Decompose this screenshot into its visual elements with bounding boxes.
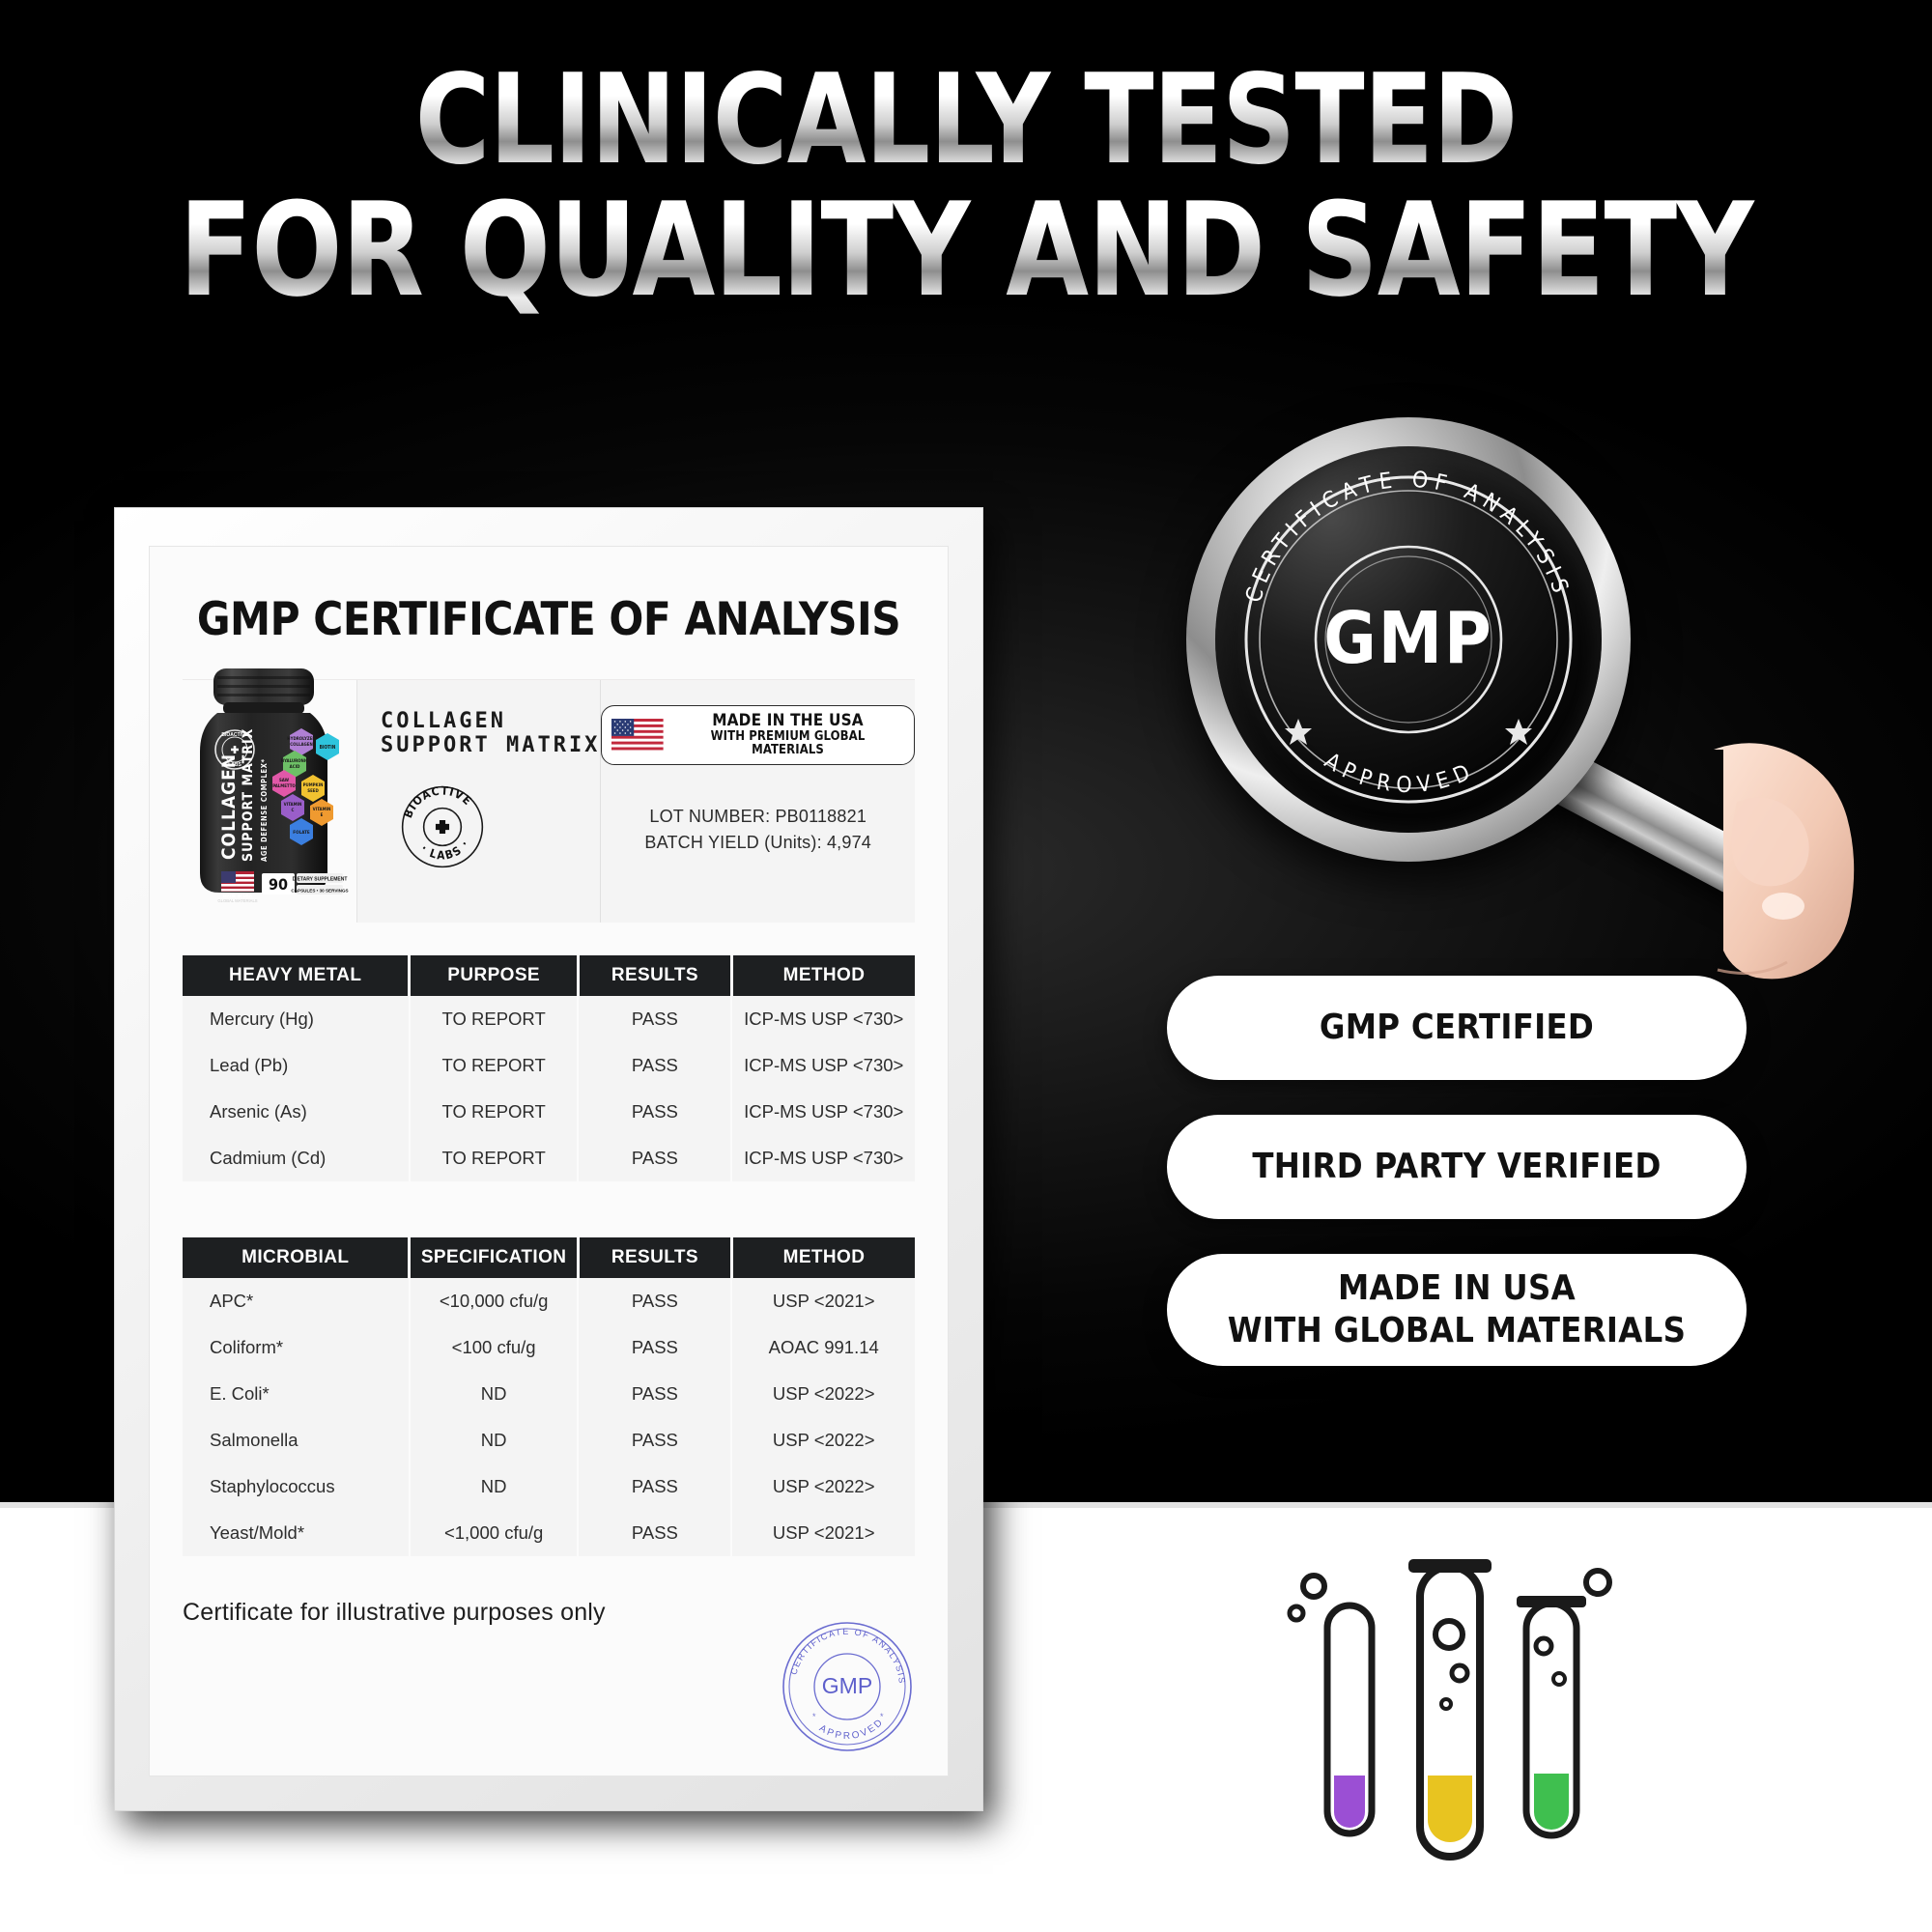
badge-third-party-verified: THIRD PARTY VERIFIED [1167, 1115, 1747, 1219]
svg-text:GMP: GMP [1323, 597, 1493, 680]
table-row: Coliform* <100 cfu/g PASS AOAC 991.14 [183, 1324, 915, 1371]
table-row: Mercury (Hg) TO REPORT PASS ICP-MS USP <… [183, 996, 915, 1042]
test-tubes-icon [1285, 1534, 1633, 1901]
magnifier-lens: CERTIFICATE OF ANALYSIS APPROVED GMP [1215, 446, 1602, 833]
table-row: Staphylococcus ND PASS USP <2022> [183, 1463, 915, 1510]
bottle-image: BIOACTIVE LABS COLLAGEN SUPPORT MATRIX A… [175, 647, 368, 927]
cell-method: ICP-MS USP <730> [731, 1135, 915, 1181]
column-header: MICROBIAL [183, 1237, 410, 1278]
cell-analyte: Yeast/Mold* [183, 1510, 410, 1556]
table-row: APC* <10,000 cfu/g PASS USP <2021> [183, 1278, 915, 1324]
cell-analyte: Salmonella [183, 1417, 410, 1463]
cell-result: PASS [578, 1089, 731, 1135]
column-header: RESULTS [578, 955, 731, 996]
cell-spec: ND [410, 1417, 578, 1463]
svg-text:HYALURONIC: HYALURONIC [281, 758, 309, 764]
cell-analyte: APC* [183, 1278, 410, 1324]
svg-text:SAW: SAW [279, 778, 290, 783]
table-row: Arsenic (As) TO REPORT PASS ICP-MS USP <… [183, 1089, 915, 1135]
cell-analyte: Arsenic (As) [183, 1089, 410, 1135]
cell-result: PASS [578, 1463, 731, 1510]
cell-result: PASS [578, 1042, 731, 1089]
svg-text:HYDROLYZED: HYDROLYZED [287, 736, 316, 742]
cell-method: ICP-MS USP <730> [731, 1042, 915, 1089]
table-header-row: HEAVY METAL PURPOSE RESULTS METHOD [183, 955, 915, 996]
svg-text:VITAMIN: VITAMIN [284, 802, 302, 808]
cell-result: PASS [578, 996, 731, 1042]
svg-text:*: * [812, 1712, 816, 1721]
certificate-page: GMP CERTIFICATE OF ANALYSIS [149, 546, 949, 1776]
cell-method: USP <2022> [731, 1371, 915, 1417]
made-in-usa-line-2: WITH PREMIUM GLOBAL MATERIALS [673, 730, 902, 758]
cell-result: PASS [578, 1510, 731, 1556]
made-in-usa-badge: MADE IN THE USA WITH PREMIUM GLOBAL MATE… [601, 705, 915, 765]
cell-result: PASS [578, 1371, 731, 1417]
column-header: METHOD [731, 955, 915, 996]
svg-text:PALMETTO: PALMETTO [272, 783, 296, 789]
cell-result: PASS [578, 1278, 731, 1324]
svg-text:VITAMIN: VITAMIN [313, 807, 331, 812]
cell-analyte: Coliform* [183, 1324, 410, 1371]
svg-text:APPROVED: APPROVED [1320, 749, 1479, 798]
magnifier-glass: CERTIFICATE OF ANALYSIS APPROVED GMP [1186, 417, 1631, 862]
cell-method: AOAC 991.14 [731, 1324, 915, 1371]
svg-text:*: * [880, 1712, 884, 1721]
svg-text:SUPPORT MATRIX: SUPPORT MATRIX [241, 728, 256, 862]
certificate-title: GMP CERTIFICATE OF ANALYSIS [183, 593, 915, 646]
column-header: RESULTS [578, 1237, 731, 1278]
bioactive-labs-seal-icon: BIOACTIVE · LABS · [400, 784, 485, 869]
cell-method: ICP-MS USP <730> [731, 1089, 915, 1135]
svg-text:AGE DEFENSE COMPLEX*: AGE DEFENSE COMPLEX* [260, 758, 269, 862]
cell-method: USP <2022> [731, 1417, 915, 1463]
svg-text:90: 90 [269, 875, 288, 894]
cell-spec: <10,000 cfu/g [410, 1278, 578, 1324]
cell-analyte: Staphylococcus [183, 1463, 410, 1510]
column-header: HEAVY METAL [183, 955, 410, 996]
svg-text:E: E [321, 812, 324, 818]
svg-text:COLLAGEN: COLLAGEN [290, 742, 313, 748]
cell-purpose: TO REPORT [410, 1089, 578, 1135]
certificate-frame: GMP CERTIFICATE OF ANALYSIS [114, 507, 983, 1811]
heavy-metals-table: HEAVY METAL PURPOSE RESULTS METHOD Mercu… [183, 955, 915, 1181]
badge-label-line-1: MADE IN USA [1338, 1268, 1576, 1308]
svg-text:PUMPKIN: PUMPKIN [303, 782, 324, 788]
table-row: Yeast/Mold* <1,000 cfu/g PASS USP <2021> [183, 1510, 915, 1556]
svg-text:CAPSULES • 30 SERVINGS: CAPSULES • 30 SERVINGS [291, 889, 348, 894]
svg-text:DIETARY SUPPLEMENT: DIETARY SUPPLEMENT [293, 877, 348, 883]
microbial-table: MICROBIAL SPECIFICATION RESULTS METHOD A… [183, 1237, 915, 1556]
product-info-row: BIOACTIVE LABS COLLAGEN SUPPORT MATRIX A… [183, 679, 915, 923]
gmp-seal-icon: CERTIFICATE OF ANALYSIS APPROVED GMP [1215, 446, 1602, 833]
cell-spec: <1,000 cfu/g [410, 1510, 578, 1556]
svg-text:· LABS ·: · LABS · [418, 837, 472, 862]
product-bottle: BIOACTIVE LABS COLLAGEN SUPPORT MATRIX A… [183, 680, 356, 923]
cell-purpose: TO REPORT [410, 1042, 578, 1089]
cell-spec: <100 cfu/g [410, 1324, 578, 1371]
cell-result: PASS [578, 1324, 731, 1371]
badge-label: THIRD PARTY VERIFIED [1252, 1146, 1661, 1188]
cell-purpose: TO REPORT [410, 1135, 578, 1181]
cell-analyte: Mercury (Hg) [183, 996, 410, 1042]
product-name-line-1: COLLAGEN [381, 709, 600, 733]
lot-info-cell: MADE IN THE USA WITH PREMIUM GLOBAL MATE… [600, 680, 915, 923]
headline: CLINICALLY TESTED FOR QUALITY AND SAFETY [0, 58, 1932, 316]
svg-text:BIOACTIVE: BIOACTIVE [401, 784, 474, 820]
cell-analyte: Cadmium (Cd) [183, 1135, 410, 1181]
cell-spec: ND [410, 1463, 578, 1510]
cell-method: USP <2021> [731, 1278, 915, 1324]
cell-result: PASS [578, 1417, 731, 1463]
svg-text:ACID: ACID [290, 764, 300, 770]
lot-number: LOT NUMBER: PB0118821 [601, 804, 915, 830]
cell-spec: ND [410, 1371, 578, 1417]
cell-analyte: Lead (Pb) [183, 1042, 410, 1089]
svg-text:COLLAGEN: COLLAGEN [218, 753, 240, 860]
table-row: E. Coli* ND PASS USP <2022> [183, 1371, 915, 1417]
gmp-approved-stamp-icon: CERTIFICATE OF ANALYSIS APPROVED GMP * * [780, 1619, 915, 1754]
svg-text:GMP: GMP [822, 1673, 872, 1698]
svg-text:FOLATE: FOLATE [293, 830, 310, 836]
cell-method: USP <2021> [731, 1510, 915, 1556]
badge-label-line-2: WITH GLOBAL MATERIALS [1228, 1311, 1686, 1350]
svg-text:APPROVED: APPROVED [817, 1717, 887, 1742]
badge-gmp-certified: GMP CERTIFIED [1167, 976, 1747, 1080]
cell-analyte: E. Coli* [183, 1371, 410, 1417]
column-header: METHOD [731, 1237, 915, 1278]
column-header: SPECIFICATION [410, 1237, 578, 1278]
headline-line-1: CLINICALLY TESTED [77, 58, 1855, 185]
product-name-line-2: SUPPORT MATRIX [381, 733, 600, 757]
column-header: PURPOSE [410, 955, 578, 996]
batch-yield: BATCH YIELD (Units): 4,974 [601, 830, 915, 856]
cell-result: PASS [578, 1135, 731, 1181]
cell-purpose: TO REPORT [410, 996, 578, 1042]
cell-method: ICP-MS USP <730> [731, 996, 915, 1042]
magnifier-ring: CERTIFICATE OF ANALYSIS APPROVED GMP [1186, 417, 1631, 862]
feature-badges: GMP CERTIFIED THIRD PARTY VERIFIED MADE … [1167, 976, 1747, 1401]
made-in-usa-line-1: MADE IN THE USA [673, 713, 902, 730]
table-row: Cadmium (Cd) TO REPORT PASS ICP-MS USP <… [183, 1135, 915, 1181]
cell-method: USP <2022> [731, 1463, 915, 1510]
svg-text:CERTIFICATE OF ANALYSIS: CERTIFICATE OF ANALYSIS [1241, 468, 1575, 606]
table-row: Salmonella ND PASS USP <2022> [183, 1417, 915, 1463]
badge-made-in-usa: MADE IN USA WITH GLOBAL MATERIALS [1167, 1254, 1747, 1366]
svg-text:C: C [292, 808, 295, 813]
svg-text:BIOTIN: BIOTIN [320, 745, 336, 751]
headline-line-2: FOR QUALITY AND SAFETY [77, 185, 1855, 317]
product-name-cell: COLLAGEN SUPPORT MATRIX BIOACTIVE · LABS… [356, 680, 600, 923]
svg-text:SEED: SEED [307, 788, 319, 794]
badge-label: GMP CERTIFIED [1320, 1007, 1594, 1049]
usa-flag-icon [611, 719, 664, 752]
table-header-row: MICROBIAL SPECIFICATION RESULTS METHOD [183, 1237, 915, 1278]
table-row: Lead (Pb) TO REPORT PASS ICP-MS USP <730… [183, 1042, 915, 1089]
svg-text:GLOBAL MATERIALS: GLOBAL MATERIALS [217, 898, 257, 903]
